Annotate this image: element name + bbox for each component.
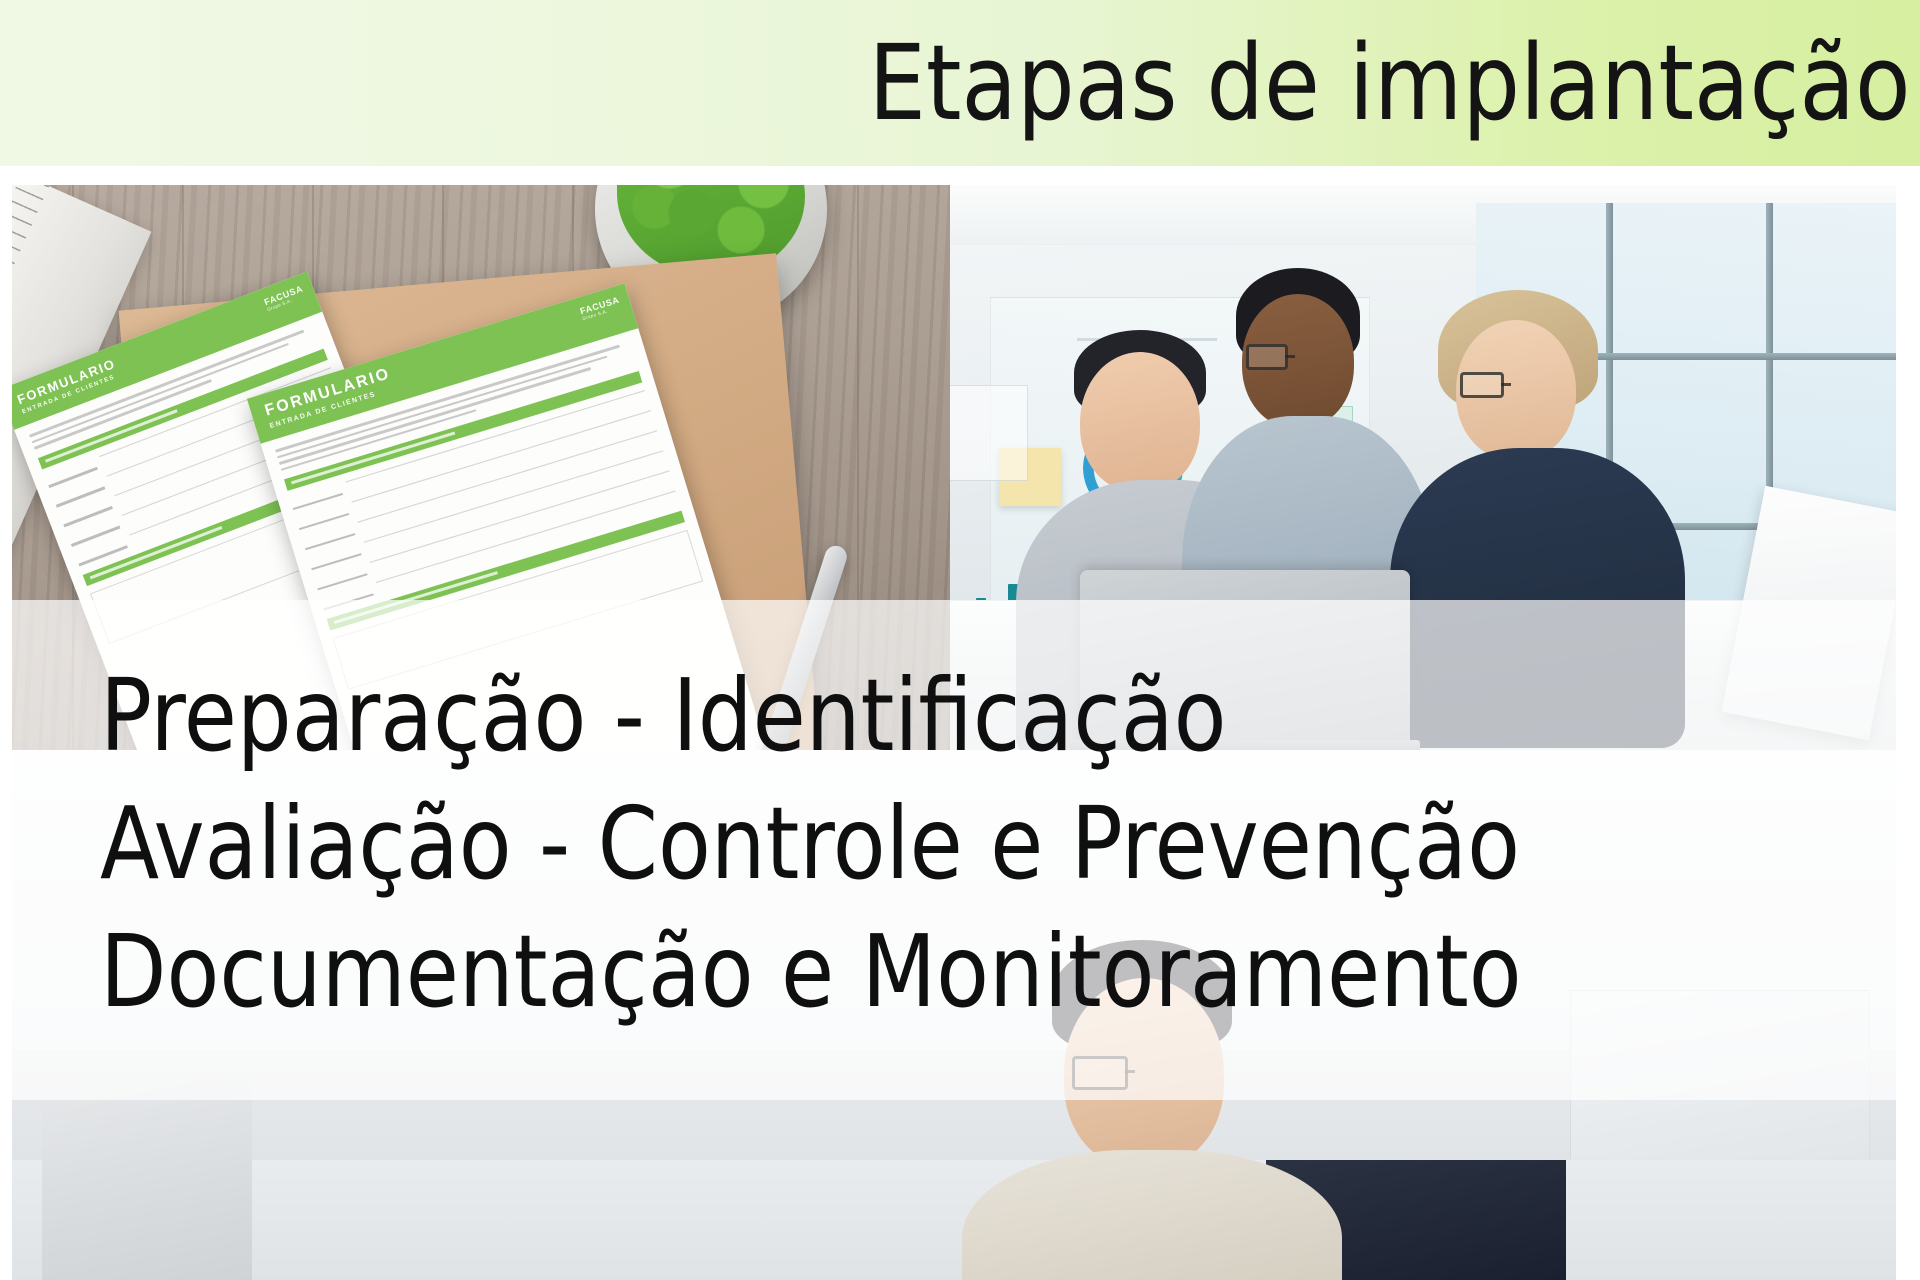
overlay-line-2: Avaliação - Controle e Prevenção — [100, 780, 1824, 908]
header-band: Etapas de implantação — [0, 0, 1920, 166]
office-chair — [42, 1080, 252, 1280]
page-title: Etapas de implantação — [868, 30, 1920, 136]
slide-canvas: Etapas de implantação FO — [0, 0, 1920, 1280]
overlay-text-panel: Preparação - Identificação Avaliação - C… — [12, 600, 1896, 1100]
glasses-icon — [1460, 372, 1504, 398]
torso — [962, 1150, 1342, 1280]
overlay-line-1: Preparação - Identificação — [100, 652, 1824, 780]
overlay-line-3: Documentação e Monitoramento — [100, 908, 1824, 1036]
glasses-icon — [1246, 344, 1288, 370]
